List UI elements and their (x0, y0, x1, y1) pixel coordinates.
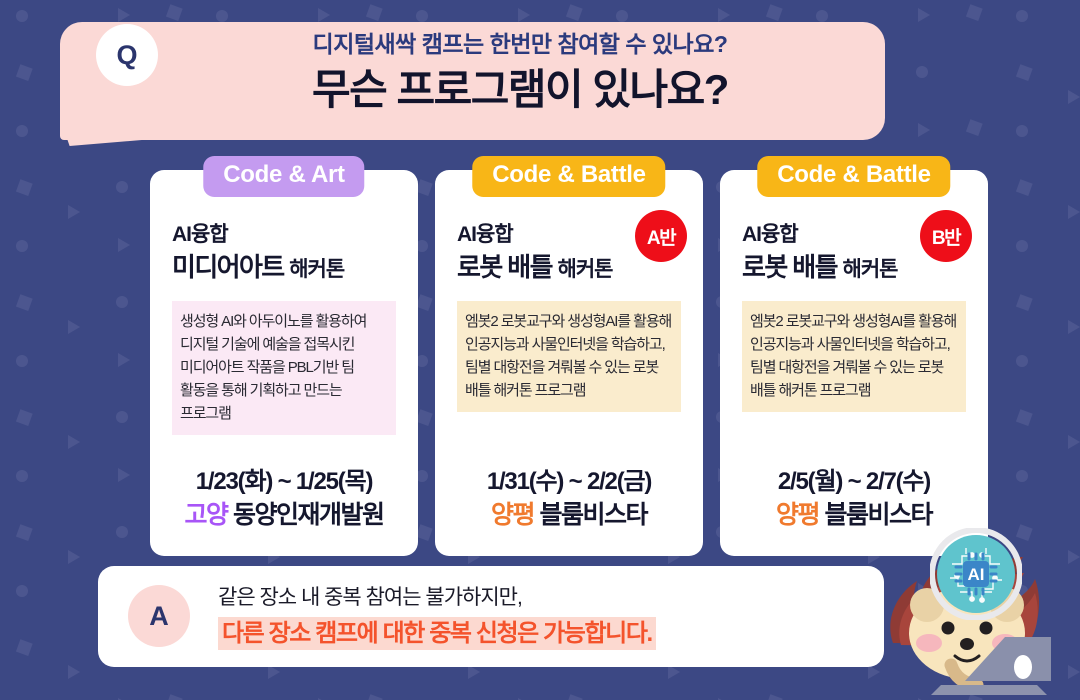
question-title: 무슨 프로그램이 있나요? (170, 62, 870, 118)
answer-line-1: 같은 장소 내 중복 참여는 불가하지만, (218, 581, 656, 615)
card-heading: AI융합 미디어아트 해커톤 (172, 222, 396, 287)
card-place: 양평 블룸비스타 (457, 498, 681, 532)
card-title-strong: 미디어아트 (172, 252, 284, 282)
card-city: 양평 (491, 501, 534, 529)
question-text-group: 디지털새싹 캠프는 한번만 참여할 수 있나요? 무슨 프로그램이 있나요? (170, 26, 870, 118)
card-class-badge: A반 (635, 210, 687, 262)
card-title-small: 해커톤 (843, 258, 898, 281)
card-venue: 블룸비스타 (539, 501, 647, 529)
question-subtitle: 디지털새싹 캠프는 한번만 참여할 수 있나요? (170, 26, 870, 62)
card-city: 고양 (185, 501, 228, 529)
program-card-list: Code & Art AI융합 미디어아트 해커톤 생성형 AI와 아두이노를 … (150, 170, 990, 556)
program-card[interactable]: Code & Battle AI융합 로봇 배틀 해커톤 B반 엠봇2 로봇교구… (720, 170, 988, 556)
card-description: 엠봇2 로봇교구와 생성형AI를 활용해 인공지능과 사물인터넷을 학습하고, … (742, 301, 966, 412)
card-date: 2/5(월) ~ 2/7(수) (742, 466, 966, 498)
card-date: 1/23(화) ~ 1/25(목) (172, 466, 396, 498)
answer-text-group: 같은 장소 내 중복 참여는 불가하지만, 다른 장소 캠프에 대한 중복 신청… (218, 581, 656, 654)
card-venue: 동양인재개발원 (233, 501, 384, 529)
card-pre-title: AI융합 (172, 222, 396, 248)
card-category-badge: Code & Battle (757, 156, 950, 197)
ai-chip-label: AI (968, 565, 985, 584)
card-title-strong: 로봇 배틀 (742, 252, 837, 282)
ai-chip-badge-icon: AI (930, 528, 1022, 620)
card-footer: 1/31(수) ~ 2/2(금) 양평 블룸비스타 (457, 466, 681, 556)
question-badge: Q (96, 24, 158, 86)
card-class-badge: B반 (920, 210, 972, 262)
program-card[interactable]: Code & Battle AI융합 로봇 배틀 해커톤 A반 엠봇2 로봇교구… (435, 170, 703, 556)
card-title-strong: 로봇 배틀 (457, 252, 552, 282)
card-title-small: 해커톤 (289, 258, 344, 281)
card-title-small: 해커톤 (558, 258, 613, 281)
answer-badge: A (128, 585, 190, 647)
card-footer: 1/23(화) ~ 1/25(목) 고양 동양인재개발원 (172, 466, 396, 556)
card-description: 엠봇2 로봇교구와 생성형AI를 활용해 인공지능과 사물인터넷을 학습하고, … (457, 301, 681, 412)
program-card[interactable]: Code & Art AI융합 미디어아트 해커톤 생성형 AI와 아두이노를 … (150, 170, 418, 556)
answer-line-2-wrap: 다른 장소 캠프에 대한 중복 신청은 가능합니다. (218, 617, 656, 654)
card-description: 생성형 AI와 아두이노를 활용하여 디지털 기술에 예술을 접목시킨 미디어아… (172, 301, 396, 435)
card-category-badge: Code & Art (203, 156, 364, 197)
card-place: 고양 동양인재개발원 (172, 498, 396, 532)
card-date: 1/31(수) ~ 2/2(금) (457, 466, 681, 498)
answer-line-2-highlight: 다른 장소 캠프에 대한 중복 신청은 가능합니다. (218, 617, 656, 650)
answer-box: A 같은 장소 내 중복 참여는 불가하지만, 다른 장소 캠프에 대한 중복 … (98, 566, 884, 667)
card-heading: AI융합 로봇 배틀 해커톤 A반 (457, 222, 681, 287)
card-heading: AI융합 로봇 배틀 해커톤 B반 (742, 222, 966, 287)
card-city: 양평 (776, 501, 819, 529)
card-category-badge: Code & Battle (472, 156, 665, 197)
card-title: 미디어아트 해커톤 (172, 250, 396, 287)
